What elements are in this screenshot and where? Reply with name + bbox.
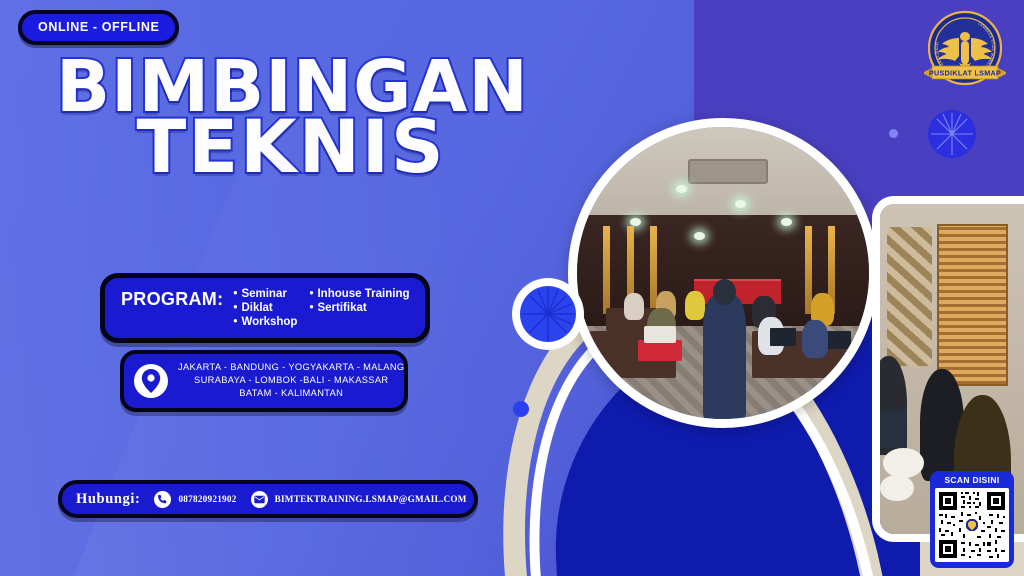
location-line: SURABAYA - LOMBOK -BALI - MAKASSAR <box>178 374 405 387</box>
contact-email[interactable]: BIMTEKTRAINING.LSMAP@GMAIL.COM <box>251 491 467 508</box>
map-pin-icon <box>134 364 168 398</box>
pusdiklat-lsmap-logo: LEMBAGA STUDI MANAJEMEN AKUNTANSI DAN PE… <box>918 8 1012 96</box>
program-item-label: Inhouse Training <box>317 288 409 300</box>
location-lines: JAKARTA - BANDUNG - YOGYAKARTA - MALANG … <box>178 361 405 401</box>
location-line: JAKARTA - BANDUNG - YOGYAKARTA - MALANG <box>178 361 405 374</box>
email-address: BIMTEKTRAINING.LSMAP@GMAIL.COM <box>275 494 467 504</box>
qr-code[interactable] <box>935 488 1009 562</box>
program-item: •Diklat <box>233 302 297 314</box>
program-columns: •Seminar •Diklat •Workshop •Inhouse Trai… <box>233 287 409 328</box>
phone-number: 087820921902 <box>178 494 236 504</box>
poster-canvas: ONLINE - OFFLINE BIMBINGAN TEKNIS PROGRA… <box>0 0 1024 576</box>
program-box: PROGRAM: •Seminar •Diklat •Workshop •Inh… <box>100 273 430 343</box>
qr-scan-block[interactable]: SCAN DISINI <box>930 471 1014 568</box>
qr-title: SCAN DISINI <box>935 475 1009 485</box>
program-column-2: •Inhouse Training •Sertifikat <box>309 288 409 328</box>
seminar-room-illustration <box>577 127 869 419</box>
bullet-icon: • <box>309 288 313 300</box>
phone-icon <box>154 491 171 508</box>
contact-phone[interactable]: 087820921902 <box>154 491 236 508</box>
program-label: PROGRAM: <box>121 287 223 310</box>
program-item-label: Sertifikat <box>317 302 366 314</box>
bullet-icon: • <box>309 302 313 314</box>
program-column-1: •Seminar •Diklat •Workshop <box>233 288 297 328</box>
contact-label: Hubungi: <box>76 491 140 508</box>
badge-online-offline[interactable]: ONLINE - OFFLINE <box>18 10 179 45</box>
program-item: •Workshop <box>233 316 297 328</box>
program-item: •Sertifikat <box>309 302 409 314</box>
sunburst-accent-right <box>926 108 978 160</box>
location-box: JAKARTA - BANDUNG - YOGYAKARTA - MALANG … <box>120 350 408 412</box>
program-item-label: Diklat <box>241 302 272 314</box>
envelope-icon <box>251 491 268 508</box>
location-line: BATAM - KALIMANTAN <box>178 387 405 400</box>
logo-ribbon-text: PUSDIKLAT LSMAP <box>929 68 1001 77</box>
contact-bar: Hubungi: 087820921902 BIMTEKTRAINING.LSM… <box>58 480 478 518</box>
program-item-label: Seminar <box>241 288 286 300</box>
program-item-label: Workshop <box>241 316 297 328</box>
badge-label: ONLINE - OFFLINE <box>38 20 159 34</box>
program-item: •Inhouse Training <box>309 288 409 300</box>
bullet-icon: • <box>233 288 237 300</box>
seminar-photo-circle <box>568 118 878 428</box>
program-item: •Seminar <box>233 288 297 300</box>
bullet-icon: • <box>233 302 237 314</box>
page-title: BIMBINGAN TEKNIS <box>56 56 526 180</box>
sunburst-accent-left <box>512 278 584 350</box>
dot-accent-lower <box>513 401 529 417</box>
dot-accent-upper <box>889 129 898 138</box>
bullet-icon: • <box>233 316 237 328</box>
